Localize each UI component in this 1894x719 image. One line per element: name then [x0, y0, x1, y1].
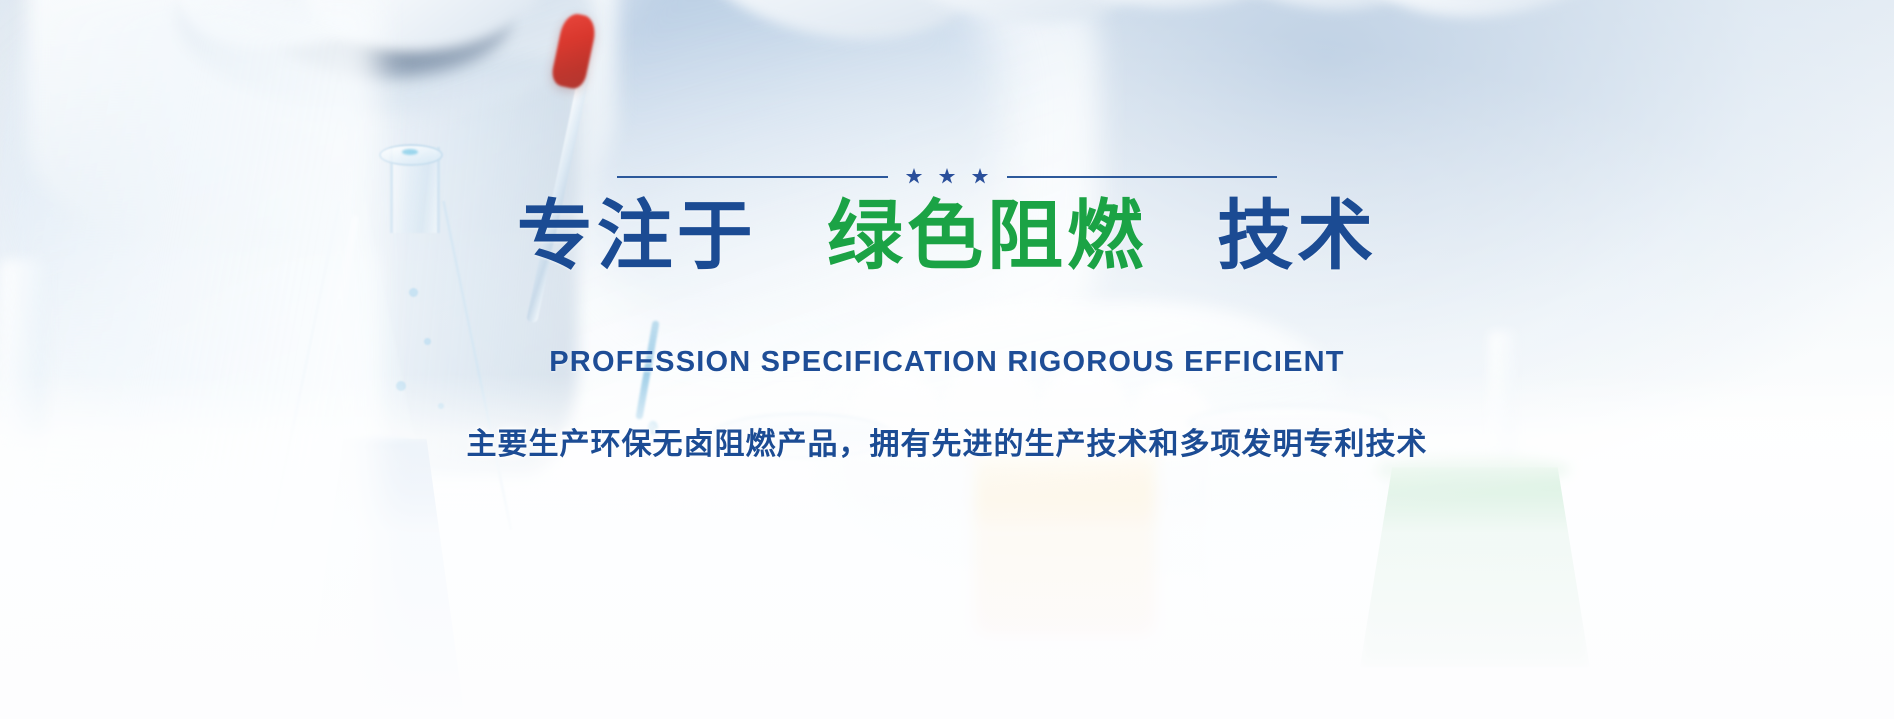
star-group [902, 168, 993, 185]
decorative-divider [617, 168, 1277, 185]
banner-description: 主要生产环保无卤阻燃产品，拥有先进的生产技术和多项发明专利技术 [467, 419, 1428, 463]
headline-part-1: 专注于 [517, 194, 757, 279]
divider-rule-right [1007, 176, 1278, 178]
star-icon [972, 168, 989, 185]
star-icon [939, 168, 956, 185]
star-icon [906, 168, 923, 185]
headline-part-2: 绿色阻燃 [827, 194, 1147, 279]
divider-rule-left [617, 176, 888, 178]
headline-part-3: 技术 [1217, 194, 1377, 279]
page-title: 专注于 绿色阻燃 技术 [517, 199, 1378, 275]
hero-banner: 专注于 绿色阻燃 技术 PROFESSION SPECIFICATION RIG… [0, 0, 1894, 719]
subtitle-english: PROFESSION SPECIFICATION RIGOROUS EFFICI… [549, 346, 1344, 379]
banner-content: 专注于 绿色阻燃 技术 PROFESSION SPECIFICATION RIG… [0, 0, 1894, 719]
